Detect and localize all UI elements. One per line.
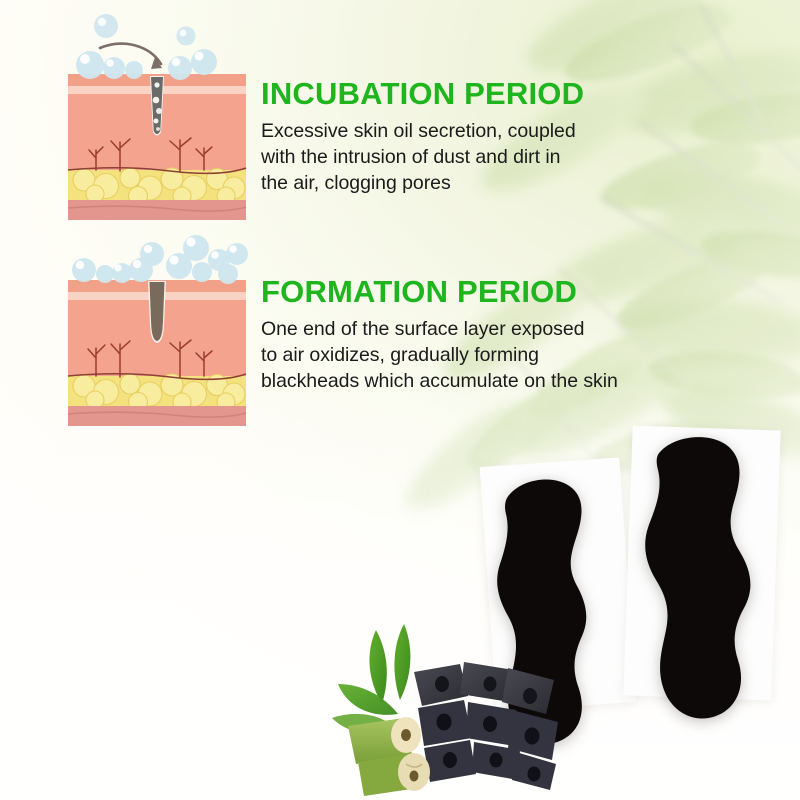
infographic-canvas: INCUBATION PERIOD Excessive skin oil sec… (0, 0, 800, 800)
body-formation-line-1: One end of the surface layer exposed (261, 317, 618, 343)
section-incubation-text: INCUBATION PERIOD Excessive skin oil sec… (261, 78, 584, 197)
bamboo-leaves (332, 624, 410, 733)
body-incubation: Excessive skin oil secretion, coupled wi… (261, 119, 584, 197)
bubble-cluster-surface (72, 235, 248, 284)
bamboo-stalks (348, 717, 430, 796)
bubble-cluster-floating (94, 14, 196, 46)
body-incubation-line-1: Excessive skin oil secretion, coupled (261, 119, 584, 145)
bamboo-charcoal-pile (318, 622, 568, 800)
skin-cross-section-incubation (62, 8, 252, 228)
body-incubation-line-3: the air, clogging pores (261, 171, 584, 197)
section-formation-text: FORMATION PERIOD One end of the surface … (261, 276, 618, 395)
nose-strip-right (618, 428, 778, 728)
body-formation-line-2: to air oxidizes, gradually forming (261, 343, 618, 369)
heading-formation: FORMATION PERIOD (261, 276, 618, 308)
body-incubation-line-2: with the intrusion of dust and dirt in (261, 145, 584, 171)
body-formation: One end of the surface layer exposed to … (261, 317, 618, 395)
skin-cross-section-formation (62, 232, 252, 432)
body-formation-line-3: blackheads which accumulate on the skin (261, 369, 618, 395)
heading-incubation: INCUBATION PERIOD (261, 78, 584, 110)
